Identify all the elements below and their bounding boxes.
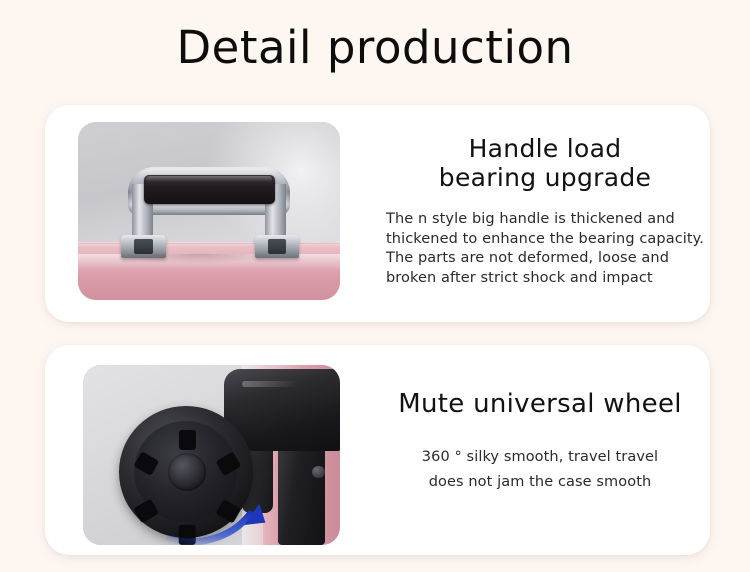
wheel-spoke <box>179 430 196 450</box>
handle-foot-slot-left <box>134 239 152 253</box>
handle-heading: Handle load bearing upgrade <box>386 135 704 192</box>
handle-shadow <box>120 254 277 263</box>
wheel-text-column: Mute universal wheel 360 ° silky smooth,… <box>375 390 705 496</box>
handle-body-text: The n style big handle is thickened and … <box>386 210 704 289</box>
handle-heading-line-2: bearing upgrade <box>386 164 704 193</box>
rotation-arrow-icon <box>150 491 291 545</box>
wheel-mount-screw <box>312 466 325 479</box>
page-title: Detail production <box>0 25 750 70</box>
wheel-heading: Mute universal wheel <box>375 390 705 420</box>
wheel-body-line-1: 360 ° silky smooth, travel travel <box>375 445 705 470</box>
feature-card-handle: Handle load bearing upgrade The n style … <box>45 105 710 322</box>
wheel-mount-highlight <box>242 381 299 386</box>
suitcase-handle-photo <box>78 122 340 300</box>
handle-grip-highlight <box>146 176 272 181</box>
handle-heading-line-1: Handle load <box>386 135 704 164</box>
wheel-hub <box>168 453 207 491</box>
handle-text-column: Handle load bearing upgrade The n style … <box>386 135 704 289</box>
wheel-body-text: 360 ° silky smooth, travel travel does n… <box>375 445 705 496</box>
handle-foot-slot-right <box>268 239 286 253</box>
wheel-body-line-2: does not jam the case smooth <box>375 470 705 495</box>
detail-production-page: Detail production Handle load bearing up… <box>0 0 750 572</box>
feature-card-wheel: Mute universal wheel 360 ° silky smooth,… <box>45 345 710 555</box>
universal-wheel-photo <box>83 365 340 545</box>
